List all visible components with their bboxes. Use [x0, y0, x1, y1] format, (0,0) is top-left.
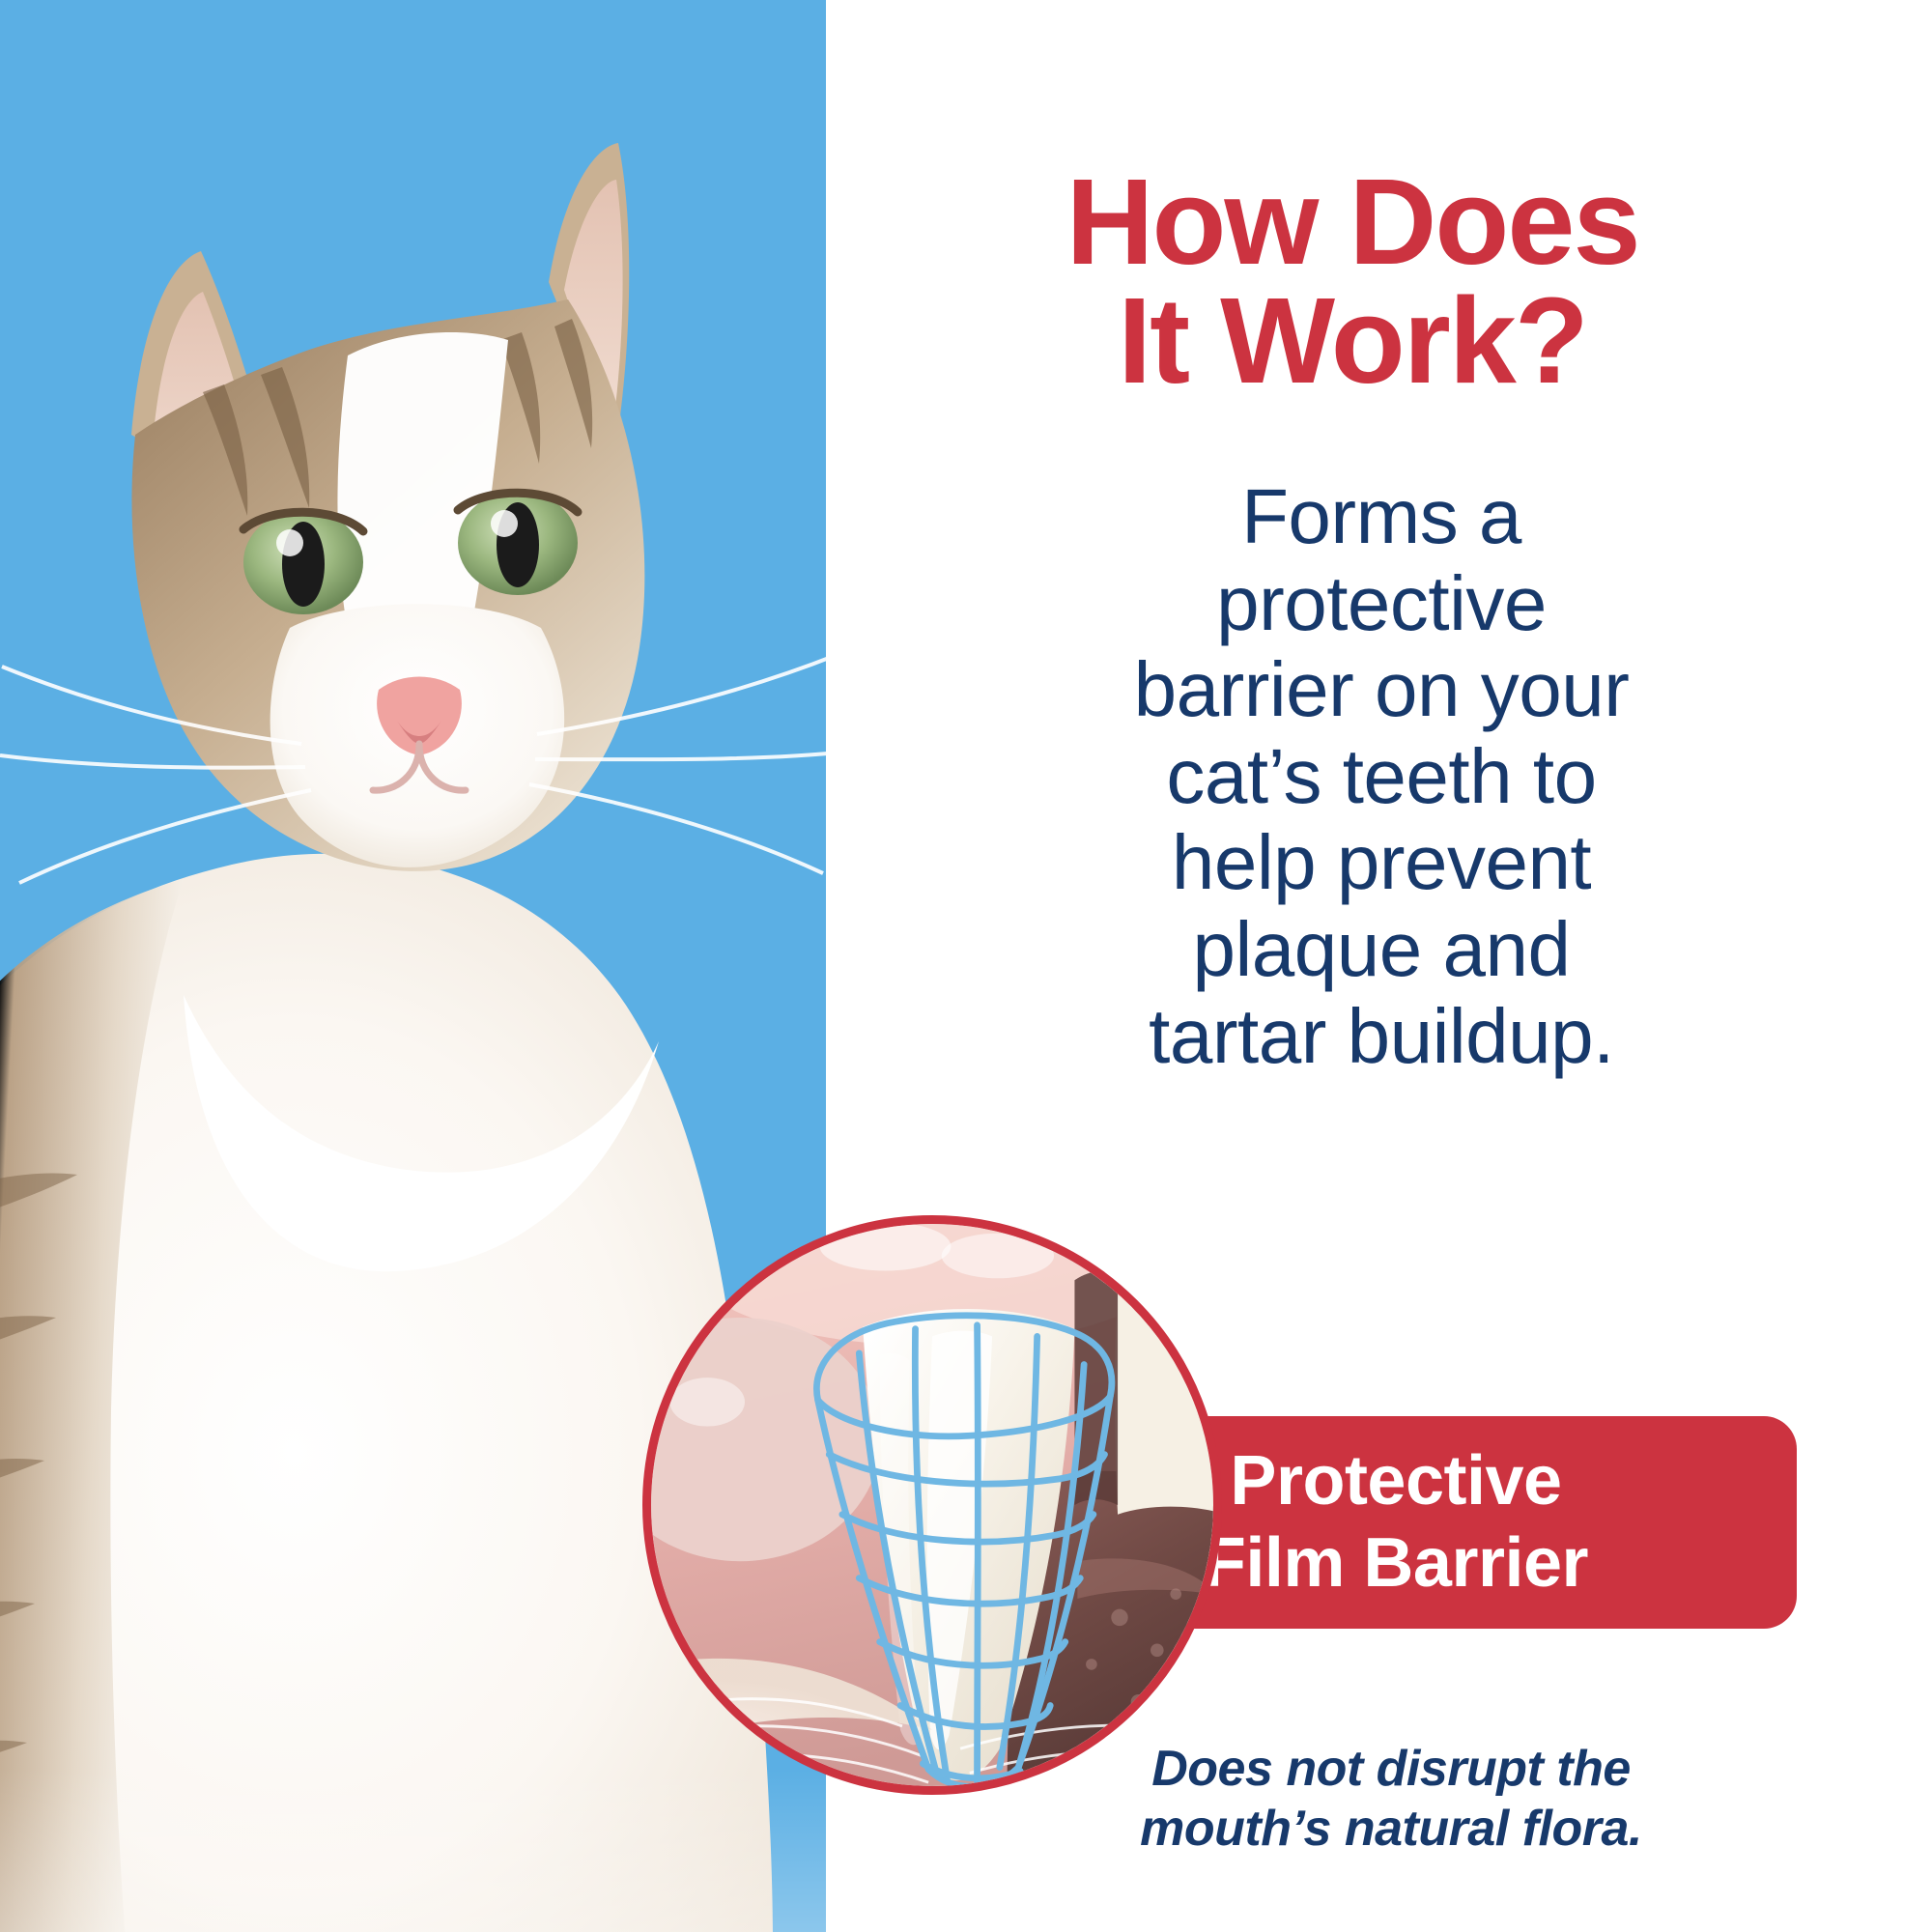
badge-line-1: Protective [1204, 1440, 1588, 1522]
badge-line-2: Film Barrier [1204, 1522, 1588, 1605]
disclaimer-line-1: Does not disrupt the [985, 1739, 1797, 1799]
cat-eye-right [458, 491, 578, 595]
body-line-6: plaque and [860, 906, 1903, 993]
body-copy: Forms a protective barrier on your cat’s… [860, 473, 1903, 1079]
headline-line-2: It Work? [811, 281, 1893, 400]
body-line-1: Forms a [860, 473, 1903, 560]
headline-line-1: How Does [1065, 154, 1638, 290]
body-line-2: protective [860, 560, 1903, 647]
page-title: How Does It Work? [811, 162, 1893, 401]
disclaimer-text: Does not disrupt the mouth’s natural flo… [985, 1739, 1797, 1860]
cat-eye-left [243, 510, 363, 614]
body-line-5: help prevent [860, 819, 1903, 906]
disclaimer-line-2: mouth’s natural flora. [985, 1799, 1797, 1859]
inset-photo [651, 1224, 1213, 1786]
poster-canvas: How Does It Work? Forms a protective bar… [0, 0, 1932, 1932]
body-line-4: cat’s teeth to [860, 733, 1903, 820]
body-line-3: barrier on your [860, 646, 1903, 733]
protective-film-inset [642, 1215, 1222, 1795]
body-line-7: tartar buildup. [860, 993, 1903, 1080]
